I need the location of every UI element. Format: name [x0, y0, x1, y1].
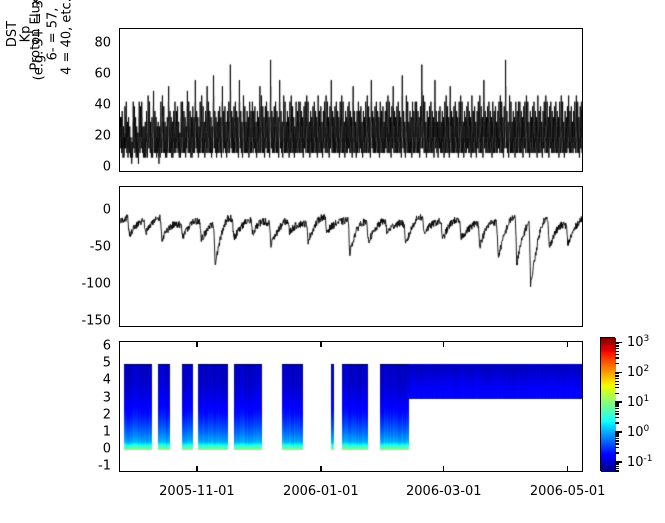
- colorbar-minor-tick: [615, 413, 619, 414]
- dst-ytick-0: 0: [0, 202, 111, 217]
- colorbar-tick-1: 100: [627, 424, 649, 440]
- colorbar-minor-tick: [615, 375, 619, 376]
- colorbar-minor-tick: [615, 422, 619, 423]
- colorbar-minor-tick: [615, 354, 619, 355]
- colorbar-tick-0: 10-1: [627, 454, 653, 470]
- colorbar-minor-tick: [615, 378, 619, 379]
- colorbar-minor-tick: [615, 381, 619, 382]
- kp-ytick-0: 0: [0, 160, 111, 175]
- kp-ytick-1: 20: [0, 129, 111, 144]
- colorbar-minor-tick: [615, 393, 619, 394]
- dst-series: [120, 187, 582, 326]
- colorbar-minor-tick: [615, 357, 619, 358]
- proton_flux-ytick-5: 4: [0, 373, 111, 388]
- xtick-label-1: 2006-01-01: [283, 484, 359, 499]
- kp-plot-area: [120, 29, 582, 171]
- colorbar-minor-tick: [615, 384, 619, 385]
- xtick-mark-3: [567, 466, 568, 472]
- colorbar-tick-2: 101: [627, 394, 649, 410]
- xtick-mark-2: [443, 341, 444, 347]
- xtick-label-0: 2005-11-01: [159, 484, 235, 499]
- colorbar-minor-tick: [615, 343, 619, 344]
- colorbar-minor-tick: [615, 470, 619, 471]
- kp-ytick-2: 40: [0, 98, 111, 113]
- colorbar-minor-tick: [615, 404, 619, 405]
- colorbar-minor-tick: [615, 447, 619, 448]
- colorbar-minor-tick: [615, 463, 619, 464]
- xtick-mark-1: [320, 341, 321, 347]
- figure-canvas: Kp (e.g. 3+ = 33, 6- = 57, 4 = 40, etc.)…: [0, 0, 665, 523]
- colorbar-tick-3: 102: [627, 364, 649, 380]
- colorbar: [600, 337, 615, 471]
- proton_flux-ytick-4: 3: [0, 390, 111, 405]
- colorbar-minor-tick: [615, 443, 619, 444]
- colorbar-minor-tick: [615, 346, 619, 347]
- proton-flux-axis-label: Proton Flux: [3, 0, 71, 71]
- colorbar-minor-tick: [615, 348, 619, 349]
- proton_flux-ytick-6: 5: [0, 356, 111, 371]
- xtick-mark-0: [196, 466, 197, 472]
- xtick-mark-2: [443, 466, 444, 472]
- proton-flux-panel: [119, 341, 583, 472]
- xtick-label-2: 2006-03-01: [406, 484, 482, 499]
- colorbar-tick-4: 103: [627, 334, 649, 350]
- xtick-mark-1: [320, 466, 321, 472]
- kp-series: [120, 29, 582, 171]
- colorbar-minor-tick: [615, 434, 619, 435]
- proton-flux-spectrogram: [120, 342, 582, 471]
- colorbar-minor-tick: [615, 417, 619, 418]
- colorbar-minor-tick: [615, 408, 619, 409]
- proton_flux-ytick-3: 2: [0, 407, 111, 422]
- colorbar-minor-tick: [615, 452, 619, 453]
- kp-panel: [119, 28, 583, 172]
- colorbar-minor-tick: [615, 433, 619, 434]
- colorbar-minor-tick: [615, 436, 619, 437]
- colorbar-minor-tick: [615, 403, 619, 404]
- xtick-mark-3: [567, 341, 568, 347]
- colorbar-minor-tick: [615, 440, 619, 441]
- xtick-label-3: 2006-05-01: [530, 484, 606, 499]
- proton_flux-ytick-1: 0: [0, 441, 111, 456]
- colorbar-minor-tick: [615, 406, 619, 407]
- proton_flux-ytick-7: 6: [0, 339, 111, 354]
- colorbar-minor-tick: [615, 363, 619, 364]
- dst-plot-area: [120, 187, 582, 326]
- colorbar-minor-tick: [615, 345, 619, 346]
- colorbar-minor-tick: [615, 351, 619, 352]
- colorbar-minor-tick: [615, 466, 619, 467]
- proton_flux-ytick-2: 1: [0, 424, 111, 439]
- colorbar-minor-tick: [615, 464, 619, 465]
- proton_flux-ytick-0: -1: [0, 459, 111, 474]
- colorbar-minor-tick: [615, 387, 619, 388]
- colorbar-minor-tick: [615, 438, 619, 439]
- dst-ytick-3: -150: [0, 314, 111, 329]
- xtick-mark-0: [196, 341, 197, 347]
- colorbar-minor-tick: [615, 468, 619, 469]
- colorbar-minor-tick: [615, 376, 619, 377]
- colorbar-minor-tick: [615, 373, 619, 374]
- colorbar-minor-tick: [615, 411, 619, 412]
- colorbar-gradient: [601, 338, 616, 472]
- dst-panel: [119, 186, 583, 327]
- proton-flux-plot-area: [120, 342, 582, 471]
- dst-ytick-1: -50: [0, 239, 111, 254]
- dst-ytick-2: -100: [0, 276, 111, 291]
